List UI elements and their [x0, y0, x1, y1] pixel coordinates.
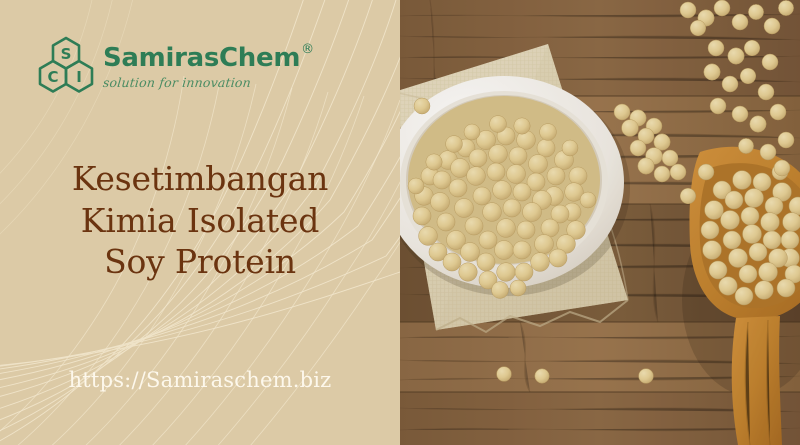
logo-letter-c: C: [47, 68, 58, 86]
sci-hexagon-logo-icon: S C I: [38, 36, 94, 98]
page-title-line-1: Kesetimbangan: [0, 158, 400, 200]
soybean-photo: [400, 0, 800, 445]
brand-tagline: solution for innovation: [102, 75, 315, 90]
brand-logo-block[interactable]: S C I SamirasChem ® solution for innovat…: [38, 36, 314, 98]
brand-wordmark: SamirasChem ® solution for innovation: [103, 45, 314, 90]
left-content-panel: S C I SamirasChem ® solution for innovat…: [0, 0, 400, 445]
website-url[interactable]: https://Samiraschem.biz: [0, 368, 400, 392]
promotional-banner: S C I SamirasChem ® solution for innovat…: [0, 0, 800, 445]
soybean-photo-illustration: [400, 0, 800, 445]
logo-letter-i: I: [76, 68, 82, 86]
logo-letter-s: S: [61, 45, 72, 63]
registered-trademark-icon: ®: [301, 43, 314, 56]
page-title-line-3: Soy Protein: [0, 241, 400, 283]
page-title-line-2: Kimia Isolated: [0, 200, 400, 242]
brand-name: SamirasChem: [103, 45, 300, 71]
page-title: Kesetimbangan Kimia Isolated Soy Protein: [0, 158, 400, 283]
